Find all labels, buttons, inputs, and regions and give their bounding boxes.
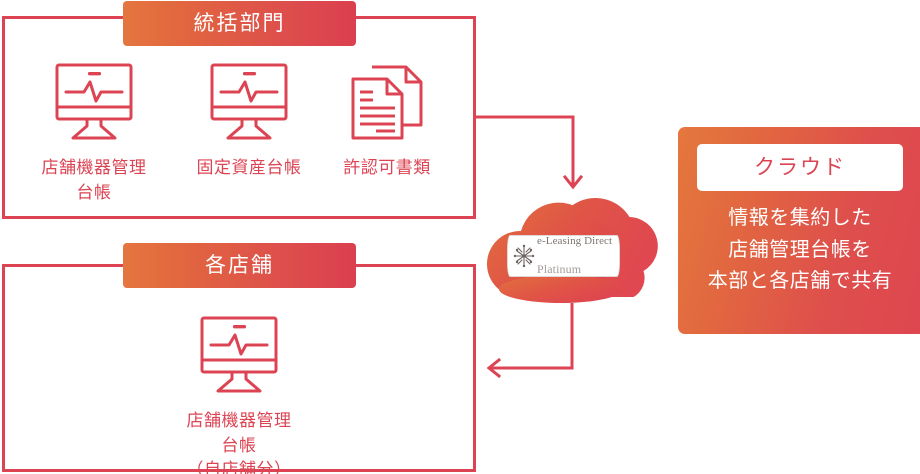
item-label: 許認可書類 (343, 156, 431, 181)
cloud-product-logo: e-Leasing Direct Platinum (507, 235, 620, 277)
cloud-logo-line2: Platinum (537, 262, 612, 277)
item-label: 店舗機器管理台帳 （自店舗分） (185, 409, 293, 474)
snowflake-icon (513, 243, 535, 269)
item-store-equipment-ledger: 店舗機器管理台帳 (40, 62, 148, 205)
diagram-canvas: 統括部門 店舗機器管理台帳 固定資産台帳 (0, 0, 920, 474)
group-tab-stores: 各店舗 (123, 243, 356, 288)
item-label: 店舗機器管理台帳 (40, 156, 148, 205)
panel-description: 情報を集約した 店舗管理台帳を 本部と各店舗で共有 (688, 203, 912, 298)
cloud-graphic: e-Leasing Direct Platinum (483, 193, 675, 303)
monitor-pulse-icon (195, 315, 283, 395)
documents-icon (343, 62, 431, 142)
arrow-to-stores-icon (489, 303, 572, 376)
monitor-pulse-icon (205, 62, 293, 142)
item-permit-documents: 許認可書類 (333, 62, 441, 181)
arrow-to-cloud-icon (474, 117, 581, 187)
item-fixed-asset-ledger: 固定資産台帳 (195, 62, 303, 181)
monitor-pulse-icon (50, 62, 138, 142)
cloud-info-panel: クラウド 情報を集約した 店舗管理台帳を 本部と各店舗で共有 (678, 127, 920, 334)
panel-title: クラウド (697, 144, 903, 191)
cloud-logo-line1: e-Leasing Direct (537, 235, 612, 249)
cloud-logo-text: e-Leasing Direct Platinum (537, 235, 612, 277)
group-tab-headquarters: 統括部門 (123, 1, 356, 46)
item-label: 固定資産台帳 (197, 156, 302, 181)
item-store-equipment-ledger-own: 店舗機器管理台帳 （自店舗分） (185, 315, 293, 474)
